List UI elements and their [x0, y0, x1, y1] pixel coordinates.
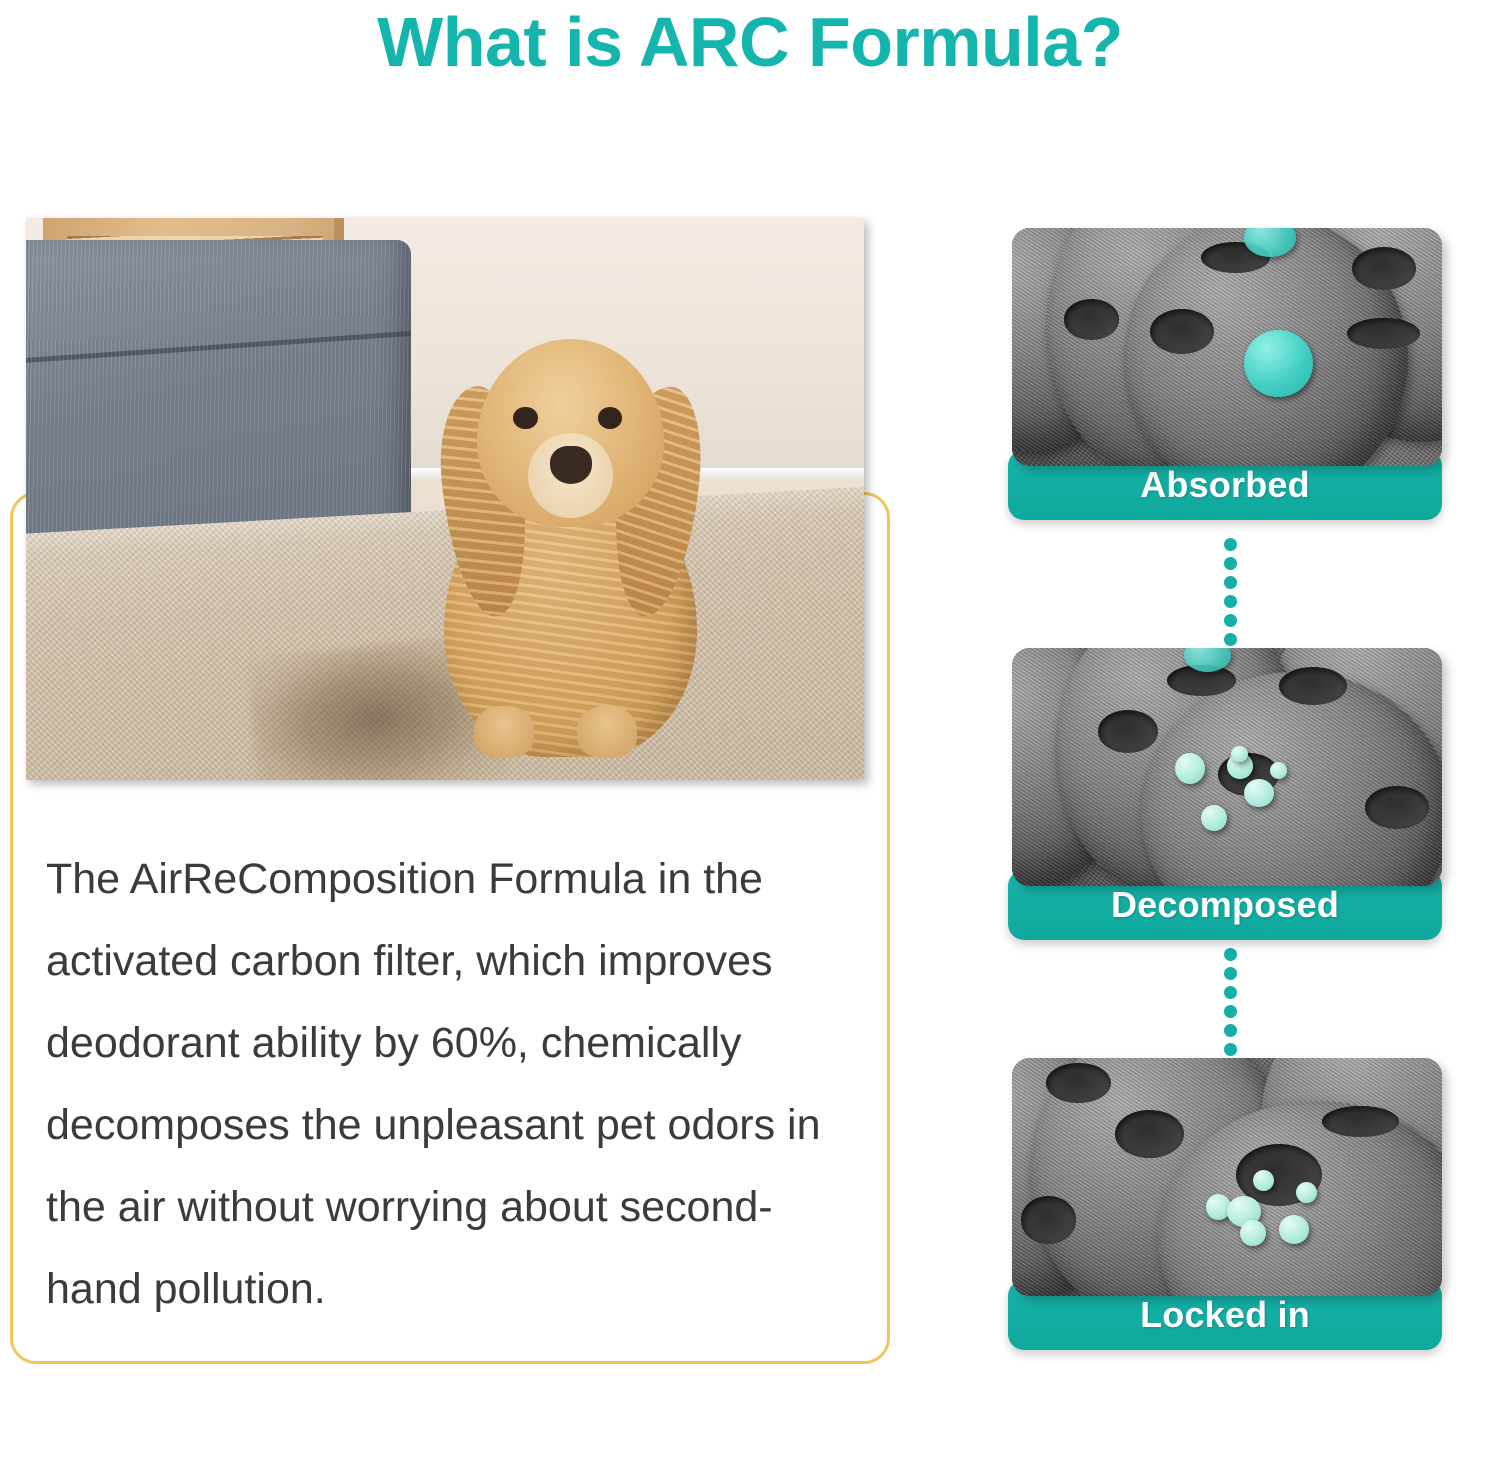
odor-particle-1	[1175, 753, 1205, 784]
connector-dot	[1224, 986, 1237, 999]
dog-paw-right	[577, 706, 637, 757]
connector-dot	[1224, 1024, 1237, 1037]
stage-card-decomposed: Decomposed	[1008, 648, 1442, 940]
carbon-pore-e	[1365, 786, 1430, 829]
odor-particle-6	[1279, 1215, 1309, 1244]
connector-dot	[1224, 1043, 1237, 1056]
carbon-pore-a	[1150, 309, 1215, 354]
carbon-pore-d	[1352, 247, 1417, 290]
carbon-granule-image-absorbed	[1012, 228, 1442, 466]
carbon-pore-b	[1115, 1110, 1184, 1158]
connector-dot	[1224, 557, 1237, 570]
dog-eye-right	[598, 407, 622, 428]
odor-particle-4	[1270, 762, 1287, 779]
stage-card-absorbed: Absorbed	[1008, 228, 1442, 520]
connector-dot	[1224, 538, 1237, 551]
carbon-granule-image-locked-in	[1012, 1058, 1442, 1296]
odor-molecule-large	[1244, 330, 1313, 397]
dog-paw-left	[474, 706, 534, 757]
description-paragraph: The AirReComposition Formula in the acti…	[46, 838, 866, 1330]
connector-dot	[1224, 614, 1237, 627]
carbon-pore-c	[1021, 1196, 1077, 1244]
connector-dot	[1224, 576, 1237, 589]
stage-label-decomposed: Decomposed	[1111, 884, 1339, 926]
connector-dot	[1224, 1005, 1237, 1018]
connector-dot	[1224, 633, 1237, 646]
carbon-granule-image-decomposed	[1012, 648, 1442, 886]
photo-scene	[26, 218, 864, 780]
connector-dot	[1224, 967, 1237, 980]
dog-nose	[550, 446, 592, 484]
carbon-pore-d	[1322, 1106, 1399, 1137]
pet-odor-photo	[26, 218, 864, 780]
flow-connector-1	[1222, 538, 1238, 646]
cocker-spaniel-dog	[420, 330, 722, 757]
page-title: What is ARC Formula?	[0, 4, 1500, 81]
connector-dot	[1224, 948, 1237, 961]
carbon-pore-a	[1046, 1063, 1111, 1103]
odor-particle-5	[1240, 1220, 1266, 1246]
stage-card-locked-in: Locked in	[1008, 1058, 1442, 1350]
carbon-pore-a	[1098, 710, 1158, 753]
infographic-page: What is ARC Formula?	[0, 0, 1500, 1477]
connector-dot	[1224, 595, 1237, 608]
carbon-pore-b	[1064, 299, 1120, 339]
odor-particle-6	[1201, 805, 1227, 831]
dog-eye-left	[513, 407, 537, 428]
carbon-pore-c	[1279, 667, 1348, 705]
flow-connector-2	[1222, 948, 1238, 1056]
stage-label-locked-in: Locked in	[1140, 1294, 1310, 1336]
stage-label-absorbed: Absorbed	[1140, 464, 1310, 506]
